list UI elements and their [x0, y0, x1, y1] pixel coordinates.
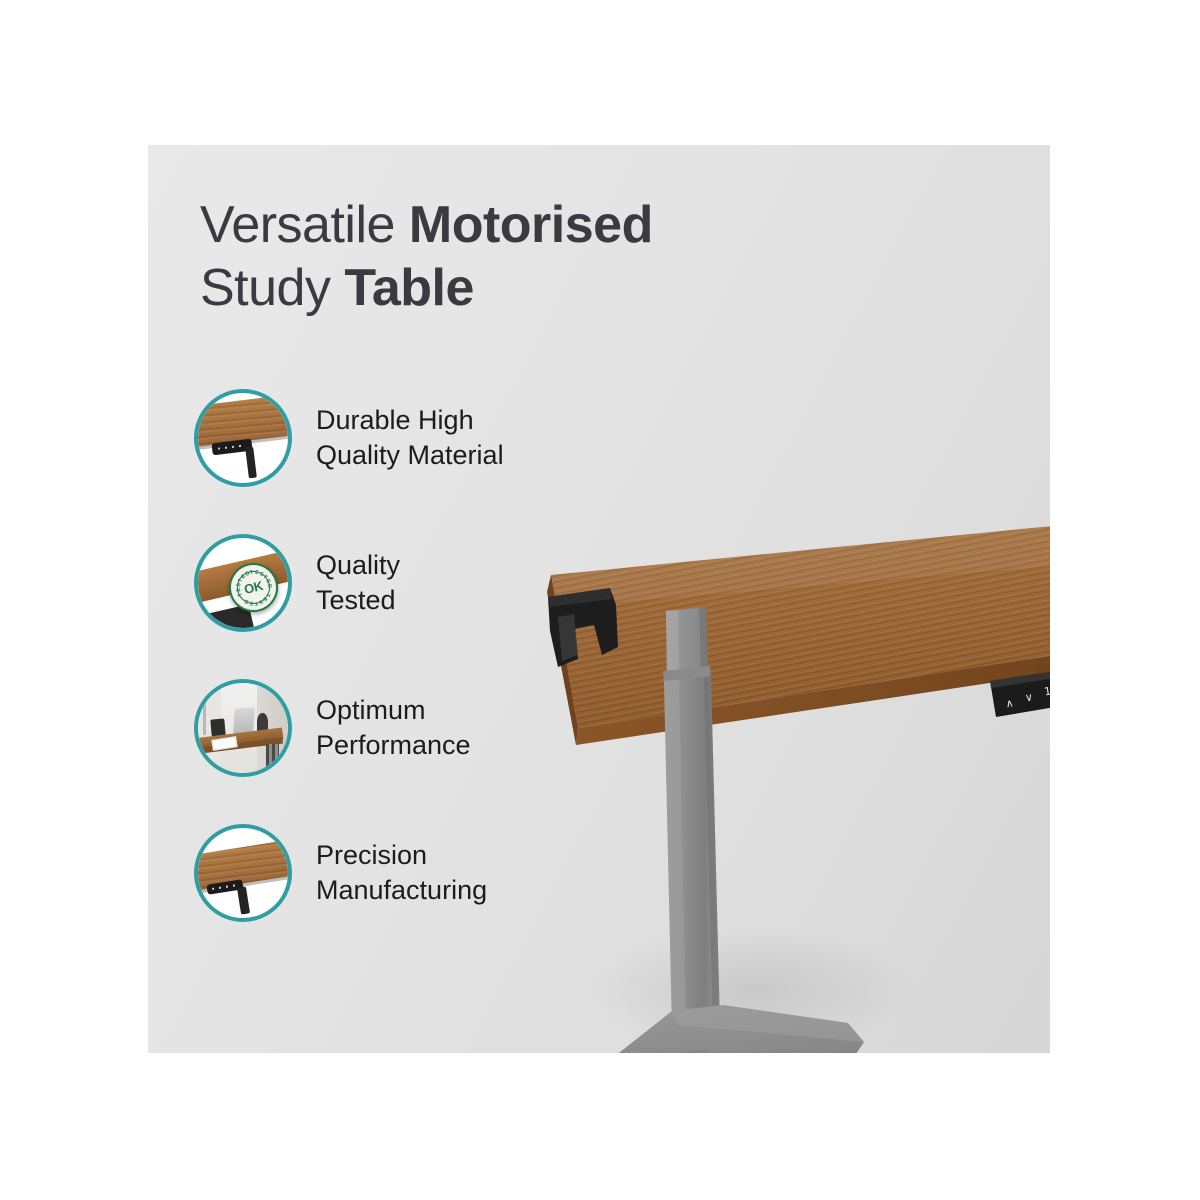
leg-foot [580, 1005, 864, 1053]
laptop-shape [233, 707, 255, 734]
product-panel: ∧ ∨ 1 2 3 S [148, 145, 1050, 1053]
headline-bold-2: Table [344, 259, 473, 317]
product-marketing-image: ∧ ∨ 1 2 3 S [0, 0, 1200, 1200]
feature-thumbnail-durable-high-quality-material [194, 389, 292, 487]
headline-regular-1: Versatile [200, 196, 409, 254]
feature-label: Optimum Performance [316, 693, 471, 762]
feature-thumbnail-precision-manufacturing [194, 824, 292, 922]
headline-regular-2: Study [200, 259, 344, 317]
feature-label: Quality Tested [316, 548, 400, 617]
speaker-shape [210, 718, 225, 736]
feature-thumbnail-quality-tested: TESTEDTESTEDTESTED OK [194, 534, 292, 632]
headline-line-1: Versatile Motorised [200, 194, 840, 257]
feature-label: Precision Manufacturing [316, 838, 487, 907]
feature-list: Durable High Quality Material TESTEDTEST… [194, 365, 614, 945]
lamp-shape [203, 699, 206, 735]
feature-label: Durable High Quality Material [316, 403, 504, 472]
headline-bold-1: Motorised [409, 196, 653, 254]
feature-thumbnail-optimum-performance [194, 679, 292, 777]
feature-item-precision-manufacturing[interactable]: Precision Manufacturing [194, 800, 614, 945]
books-shape [266, 744, 279, 769]
svg-text:1: 1 [1043, 685, 1050, 699]
leg-shape [237, 886, 250, 914]
feature-item-quality-tested[interactable]: TESTEDTESTEDTESTED OK Quality Tested [194, 510, 614, 655]
feature-item-durable-high-quality-material[interactable]: Durable High Quality Material [194, 365, 614, 510]
page-title: Versatile Motorised Study Table [200, 194, 840, 321]
headline-line-2: Study Table [200, 257, 840, 320]
leg-shape [245, 446, 257, 477]
feature-item-optimum-performance[interactable]: Optimum Performance [194, 655, 614, 800]
